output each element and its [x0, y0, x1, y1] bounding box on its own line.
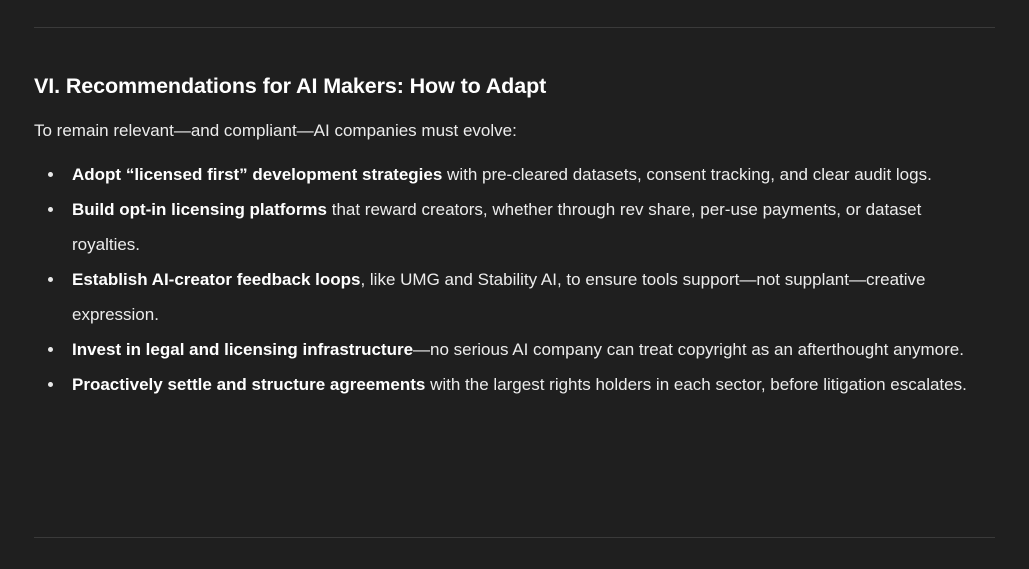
list-item-rest: with the largest rights holders in each … [425, 375, 966, 394]
list-item-lead: Invest in legal and licensing infrastruc… [72, 340, 413, 359]
bullet-icon [48, 277, 53, 282]
section-divider-bottom [34, 537, 995, 538]
list-item-lead: Proactively settle and structure agreeme… [72, 375, 425, 394]
list-item-lead: Build opt-in licensing platforms [72, 200, 327, 219]
list-item: Proactively settle and structure agreeme… [34, 367, 986, 402]
list-item-lead: Establish AI-creator feedback loops [72, 270, 360, 289]
intro-paragraph: To remain relevant—and compliant—AI comp… [34, 118, 517, 143]
list-item: Build opt-in licensing platforms that re… [34, 192, 986, 262]
bullet-icon [48, 207, 53, 212]
bullet-icon [48, 382, 53, 387]
list-item: Establish AI-creator feedback loops, lik… [34, 262, 986, 332]
list-item: Invest in legal and licensing infrastruc… [34, 332, 986, 367]
list-item-lead: Adopt “licensed first” development strat… [72, 165, 442, 184]
bullet-icon [48, 347, 53, 352]
section-heading: VI. Recommendations for AI Makers: How t… [34, 72, 546, 100]
list-item-rest: —no serious AI company can treat copyrig… [413, 340, 964, 359]
section-divider-top [34, 27, 995, 28]
bullet-icon [48, 172, 53, 177]
recommendations-list: Adopt “licensed first” development strat… [34, 157, 986, 402]
document-page: VI. Recommendations for AI Makers: How t… [0, 0, 1029, 569]
list-item-rest: with pre-cleared datasets, consent track… [442, 165, 932, 184]
list-item: Adopt “licensed first” development strat… [34, 157, 986, 192]
